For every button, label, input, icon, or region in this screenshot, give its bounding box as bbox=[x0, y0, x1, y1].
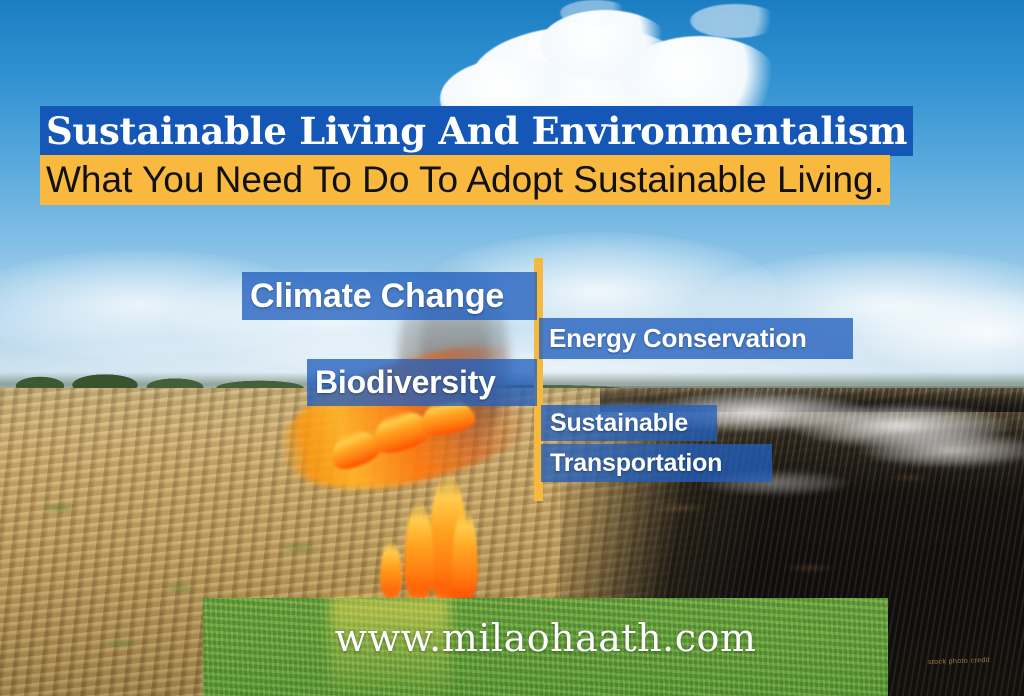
website-url[interactable]: www.milaohaath.com bbox=[203, 616, 888, 660]
title-subheadline: What You Need To Do To Adopt Sustainable… bbox=[40, 155, 890, 205]
cloud-wisp-b bbox=[560, 0, 630, 26]
poster-canvas: Sustainable Living And Environmentalism … bbox=[0, 0, 1024, 696]
topic-chip-climate-change[interactable]: Climate Change bbox=[242, 272, 537, 320]
topic-chip-transportation[interactable]: Transportation bbox=[541, 444, 772, 482]
title-block: Sustainable Living And Environmentalism … bbox=[40, 106, 1015, 202]
topic-chip-sustainable[interactable]: Sustainable bbox=[541, 405, 717, 441]
topic-chip-biodiversity[interactable]: Biodiversity bbox=[307, 359, 537, 406]
title-headline: Sustainable Living And Environmentalism bbox=[40, 106, 913, 156]
title-subheadline-wrap: What You Need To Do To Adopt Sustainable… bbox=[40, 157, 1020, 202]
topic-chip-energy-conservation[interactable]: Energy Conservation bbox=[539, 318, 853, 359]
background-photo bbox=[0, 0, 1024, 696]
cloud-wisp-a bbox=[690, 4, 780, 38]
